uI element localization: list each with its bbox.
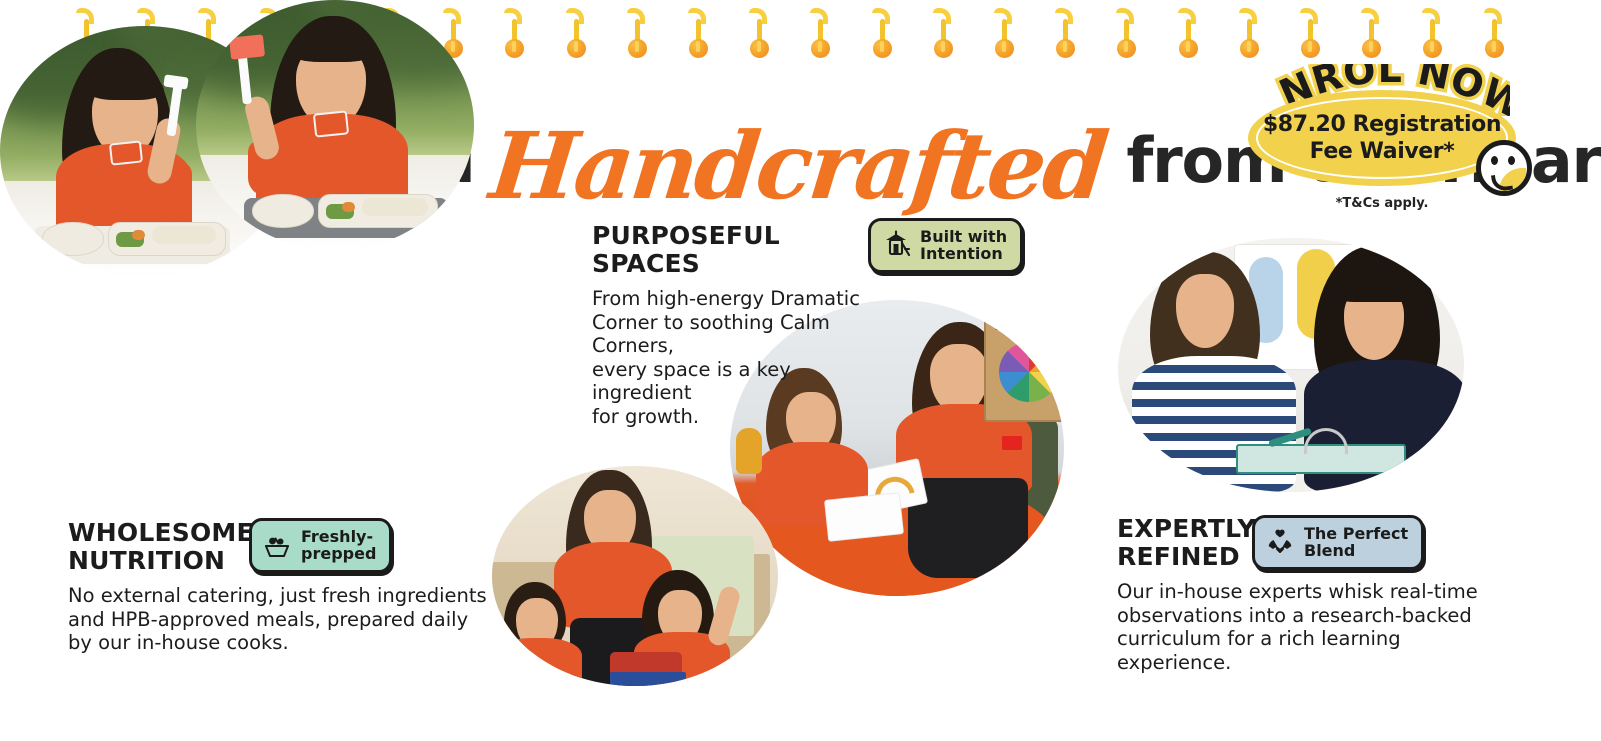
honey-drip-icon [806,8,832,60]
salad-bowl-icon [262,530,292,560]
flag-patch [1002,436,1022,450]
child-shirt-left [494,638,582,686]
playground-tower-icon [881,230,911,260]
honey-drip-icon [500,8,526,60]
bowl [42,222,104,256]
carrot [342,202,355,212]
honey-drip-icon [1357,8,1383,60]
enrol-now-badge[interactable]: ENROL NOW $87.20 Registration Fee Waiver… [1248,62,1532,230]
honey-drip-icon [1235,8,1261,60]
honey-drip-icon [562,8,588,60]
logo-smile [1491,173,1513,193]
honey-drip-icon [1480,8,1506,60]
enrol-line2: Fee Waiver* [1310,139,1455,164]
terms-disclaimer: *T&Cs apply. [1248,196,1516,211]
logo-eye-right [1508,156,1515,165]
photo-expertly-refined [1118,238,1464,492]
badge-freshly-prepped[interactable]: Freshly- prepped [249,518,392,573]
enrol-line1: $87.20 Registration [1263,112,1501,137]
rice-portion [362,198,428,216]
honey-drip-icon [684,8,710,60]
emotion-sign-label-2: Wheel [993,318,1046,334]
logo-eye-left [1491,156,1498,165]
badge-label: The Perfect Blend [1304,525,1408,560]
honey-drip-icon [1112,8,1138,60]
picture-book [824,492,904,542]
honey-drip-icon [1296,8,1322,60]
badge-the-perfect-blend[interactable]: The Perfect Blend [1252,515,1424,570]
headline-script: Handcrafted [485,112,1110,220]
photo-lobe-right [196,0,474,250]
banner-root: A Childhood Handcrafted from the Heart E… [0,0,1601,741]
section-purposeful-spaces: PURPOSEFUL SPACES From high-energy Drama… [592,222,892,429]
section-title: PURPOSEFUL SPACES [592,222,892,278]
child-collar [313,110,349,137]
section-body: No external catering, just fresh ingredi… [68,584,488,655]
honey-drip-icon [1051,8,1077,60]
honey-drip-icon [1174,8,1200,60]
watermelon-slice [229,34,265,59]
honey-drip-icon [868,8,894,60]
handshake-heart-icon [1265,527,1295,557]
honey-drip-icon [1418,8,1444,60]
honey-drip-icon [990,8,1016,60]
toy-blue [610,672,686,686]
child-collar [109,140,143,165]
bowl [252,194,314,228]
badge-built-with-intention[interactable]: Built with Intention [868,218,1023,273]
emotion-sign-label-1: Emotion [993,300,1062,316]
honey-drip-icon [745,8,771,60]
photo-purposeful-spaces-dramatic [492,466,778,686]
section-body: Our in-house experts whisk real-time obs… [1117,580,1517,674]
section-body: From high-energy Dramatic Corner to soot… [592,287,892,429]
honey-drip-icon [623,8,649,60]
badge-label: Freshly- prepped [301,528,376,563]
carrot [132,230,145,240]
emotion-wheel-sign: Emotion Wheel [984,300,1064,422]
emotion-wheel-graphic [999,342,1059,402]
smiley-leaf-logo-icon [1476,140,1532,196]
honey-drip-icon [929,8,955,60]
photo-wholesome-nutrition [0,0,474,278]
badge-label: Built with Intention [920,228,1007,263]
